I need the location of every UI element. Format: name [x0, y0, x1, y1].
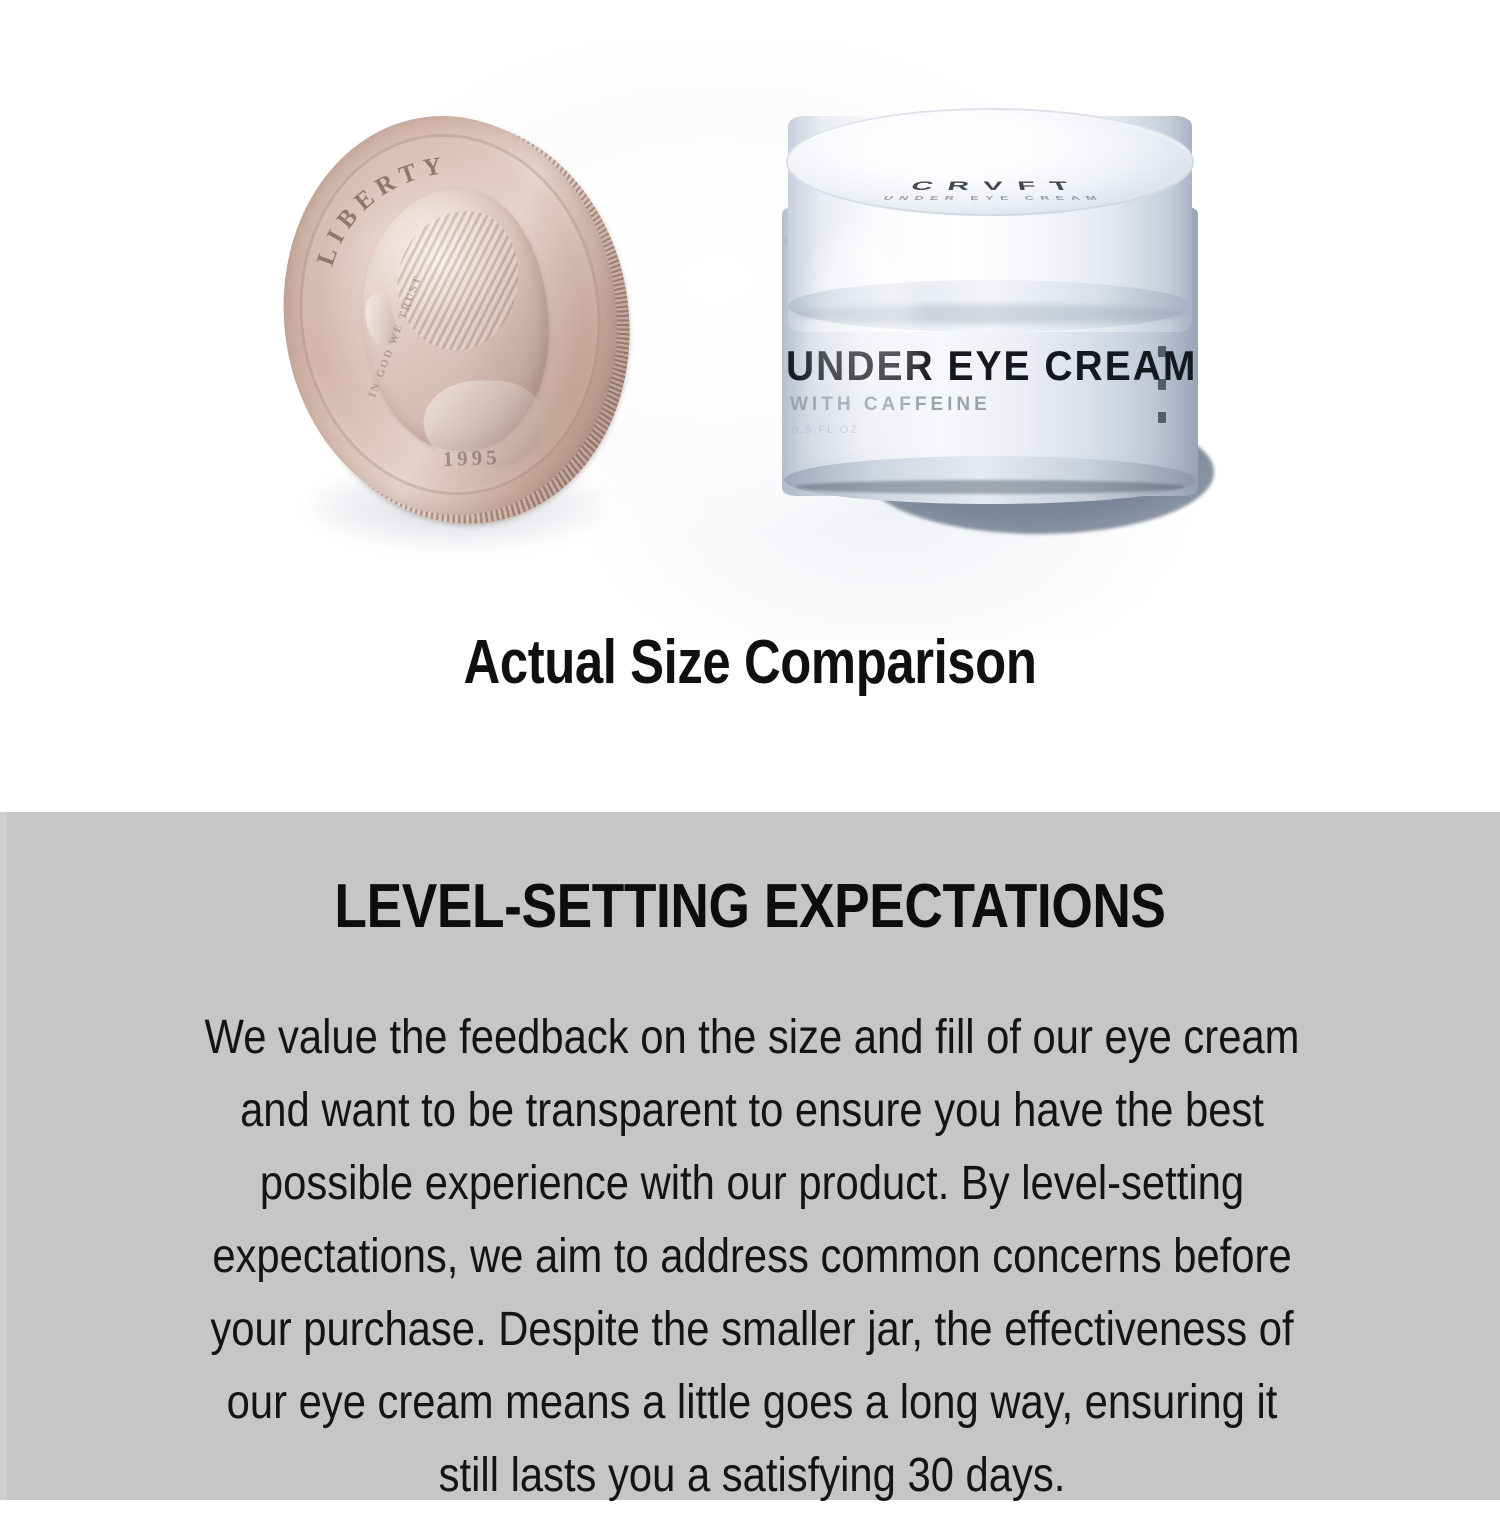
- jar-lid-branding: CRVFT UNDER EYE CREAM . .: [828, 179, 1152, 207]
- section-body-text: We value the feedback on the size and fi…: [200, 1002, 1303, 1513]
- jar-base-contact-shadow: [796, 480, 1184, 494]
- eye-cream-jar: CRVFT UNDER EYE CREAM . . UNDER EYE CREA…: [744, 108, 1244, 578]
- lid-dots-text: . .: [828, 202, 1152, 207]
- product-subtitle-text: WITH CAFFEINE: [790, 394, 1186, 416]
- jar-body-group: CRVFT UNDER EYE CREAM . . UNDER EYE CREA…: [768, 108, 1214, 528]
- product-name-text: UNDER EYE CREAM: [786, 344, 1186, 391]
- jar-side-text-marks: [1158, 346, 1180, 466]
- coin-obverse-face: IN GOD WE TRUST LIBERTY 199: [261, 97, 639, 534]
- jar-lid-under-shadow: [792, 304, 1188, 324]
- section-heading: LEVEL-SETTING EXPECTATIONS: [105, 874, 1395, 939]
- coin-liberty-text: LIBERTY: [301, 151, 460, 272]
- product-volume-text: 0.5 FL OZ: [792, 424, 1186, 436]
- coin-liberty-arc: LIBERTY: [306, 124, 582, 305]
- brand-name-text: CRVFT: [842, 179, 1138, 193]
- coin-date-text: 1995: [411, 444, 532, 473]
- coin-body: IN GOD WE TRUST LIBERTY 199: [259, 92, 668, 553]
- quarter-coin: IN GOD WE TRUST LIBERTY 199: [283, 112, 663, 552]
- product-info-graphic: IN GOD WE TRUST LIBERTY 199: [0, 0, 1500, 1500]
- panel-left-edge: [0, 812, 7, 1500]
- size-comparison-caption: Actual Size Comparison: [135, 630, 1365, 695]
- size-comparison-panel: IN GOD WE TRUST LIBERTY 199: [0, 0, 1500, 812]
- jar-front-label: UNDER EYE CREAM WITH CAFFEINE 0.5 FL OZ: [786, 344, 1186, 436]
- product-photo-stage: IN GOD WE TRUST LIBERTY 199: [0, 0, 1500, 620]
- expectations-panel: LEVEL-SETTING EXPECTATIONS We value the …: [0, 812, 1500, 1500]
- lid-subtitle-text: UNDER EYE CREAM: [834, 195, 1146, 201]
